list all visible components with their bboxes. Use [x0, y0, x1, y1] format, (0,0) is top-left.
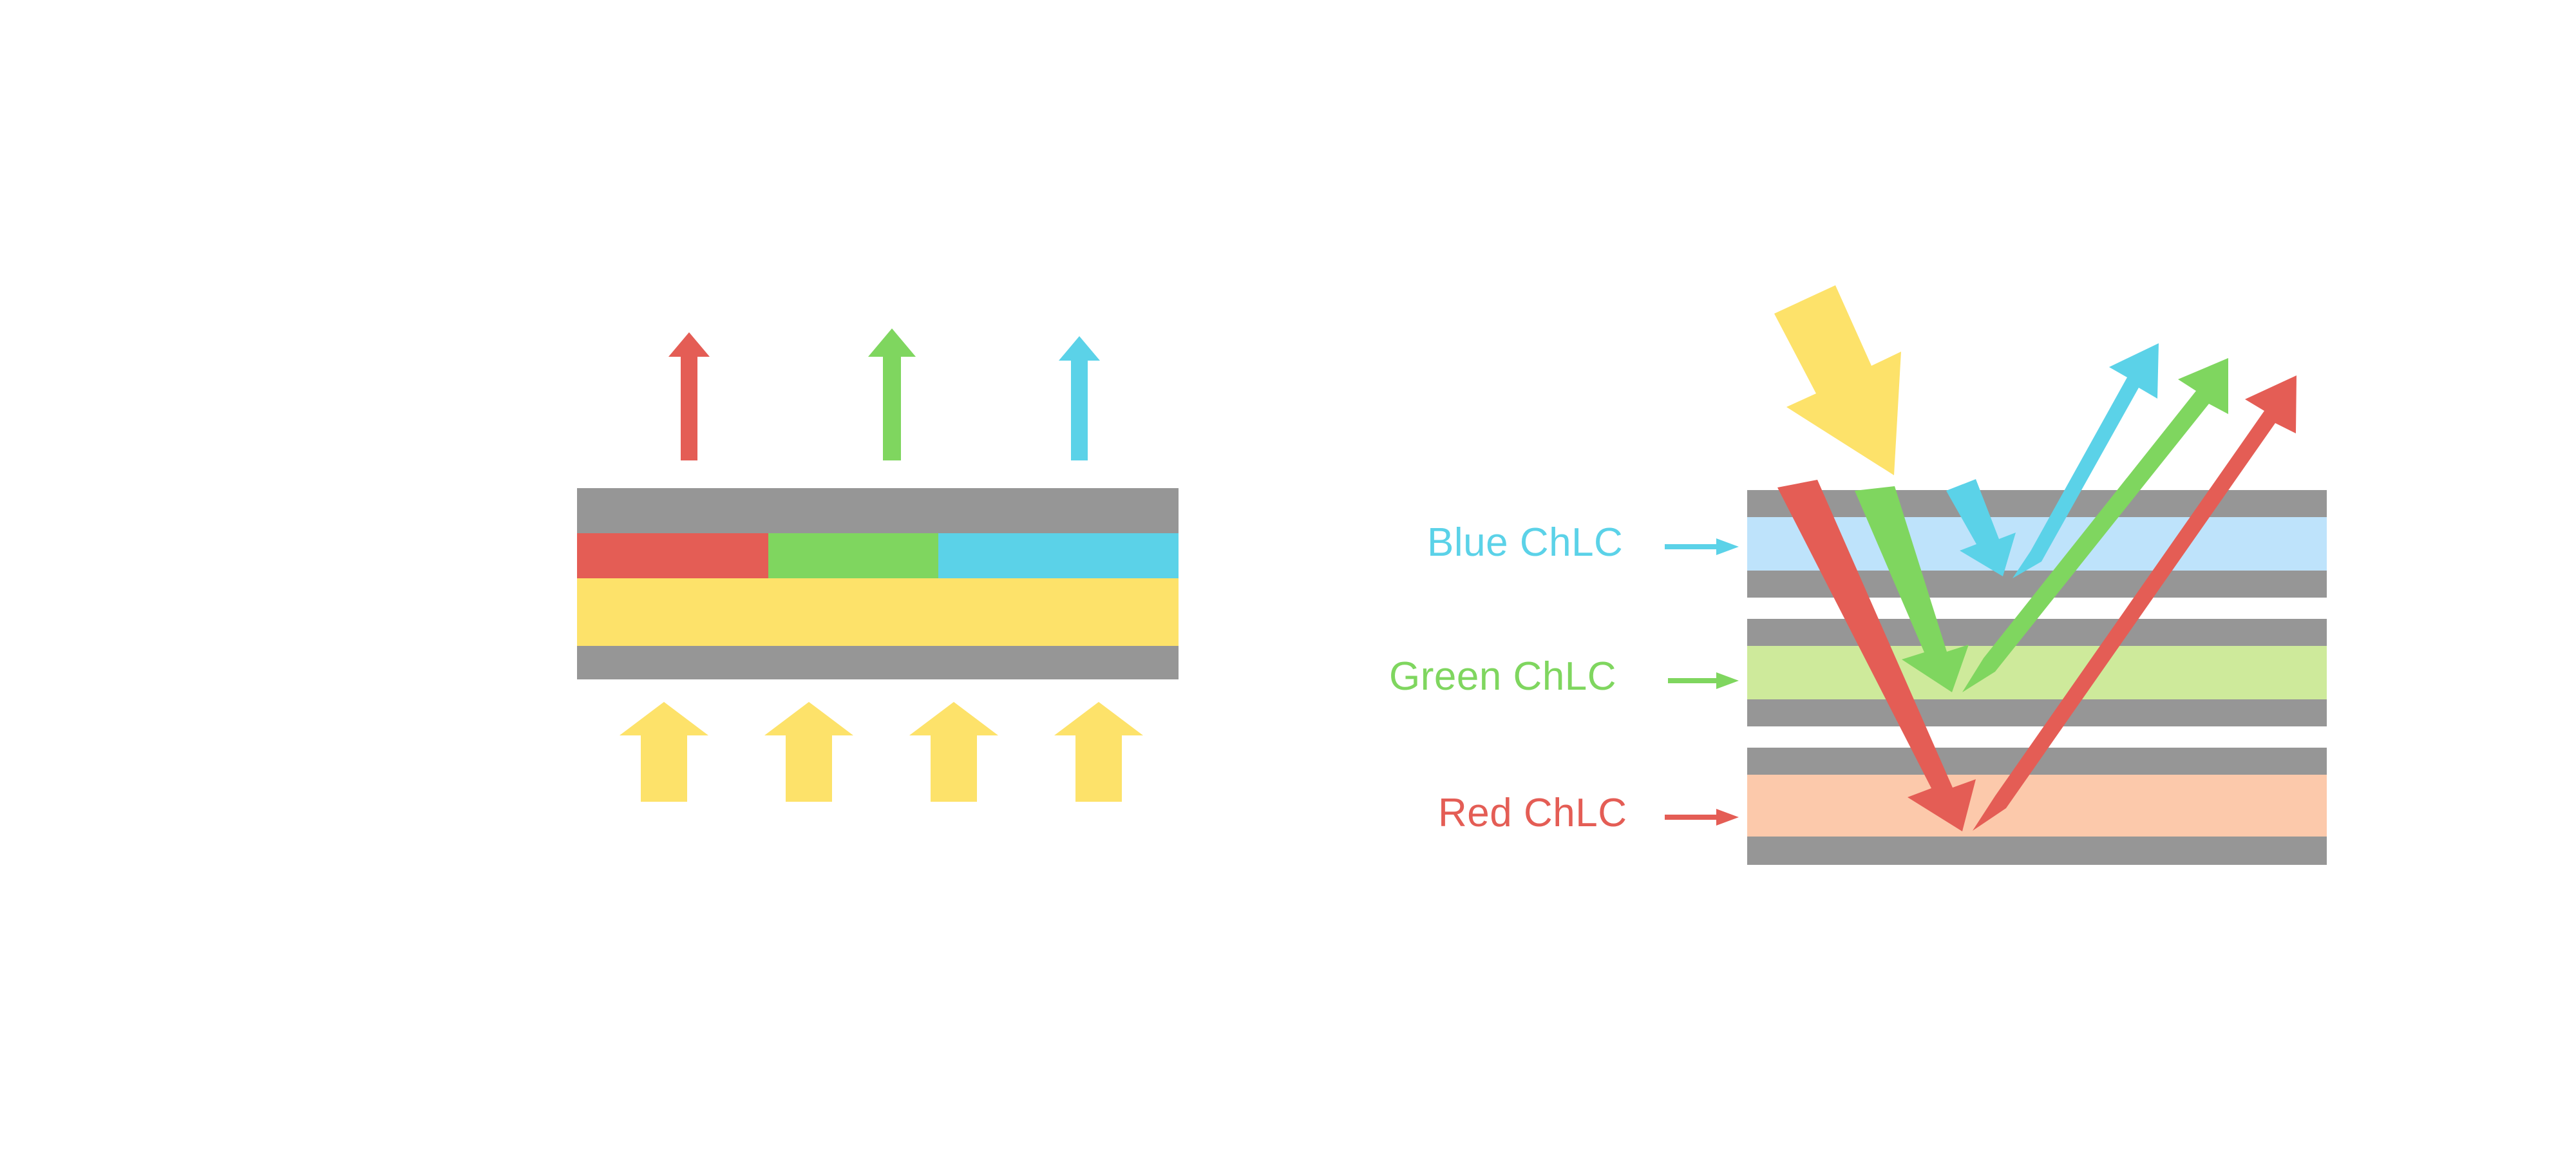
- green-top-electrode: [1747, 619, 2327, 646]
- green-bottom-electrode: [1747, 699, 2327, 726]
- red-bottom-electrode: [1747, 837, 2327, 865]
- green-label-leader-arrow: [1668, 672, 1739, 689]
- emitted-green-arrow: [868, 328, 916, 460]
- emitted-arrows-group: [668, 328, 1100, 460]
- left-top-substrate: [577, 488, 1179, 533]
- left-red-subpixel: [577, 533, 768, 578]
- backlight-arrow-4: [1054, 702, 1143, 802]
- left-bottom-substrate: [577, 646, 1179, 679]
- red-label-leader-arrow: [1665, 809, 1739, 826]
- red-chlc-layer: [1747, 775, 2327, 837]
- right-panel-group: [1665, 285, 2327, 865]
- backlight-arrow-2: [764, 702, 853, 802]
- blue-top-electrode: [1747, 490, 2327, 517]
- backlight-arrows-group: [620, 702, 1143, 802]
- left-panel-group: [577, 328, 1179, 802]
- diagram-svg: [0, 0, 2576, 1154]
- emitted-red-arrow: [668, 332, 710, 460]
- left-blue-subpixel: [938, 533, 1179, 578]
- backlight-arrow-1: [620, 702, 708, 802]
- left-layer-stack: [577, 488, 1179, 679]
- label-leader-arrows: [1665, 538, 1739, 826]
- emitted-blue-arrow: [1059, 336, 1100, 460]
- left-green-subpixel: [768, 533, 938, 578]
- blue-label-leader-arrow: [1665, 538, 1739, 555]
- figure-canvas: Blue ChLC Green ChLC Red ChLC: [0, 0, 2576, 1154]
- green-chlc-label: Green ChLC: [1389, 657, 1616, 697]
- red-chlc-label: Red ChLC: [1438, 793, 1627, 833]
- blue-chlc-label: Blue ChLC: [1427, 523, 1623, 563]
- backlight-arrow-3: [909, 702, 998, 802]
- green-chlc-layer: [1747, 646, 2327, 699]
- left-yellow-backlight: [577, 578, 1179, 646]
- incident-white-light-arrow: [1774, 285, 1901, 475]
